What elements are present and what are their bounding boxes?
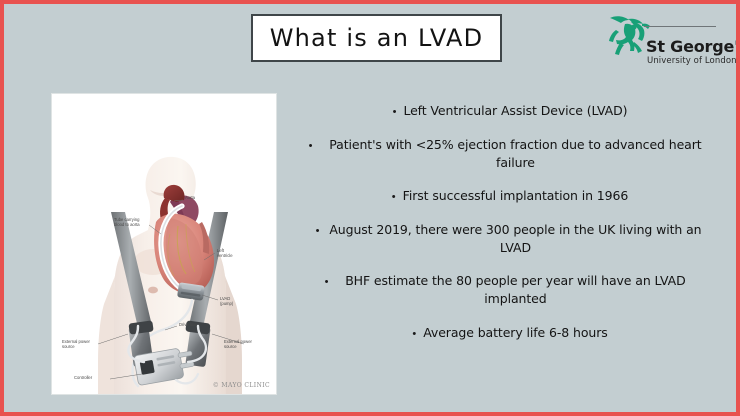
list-item: • Patient's with <25% ejection fraction … [296, 136, 724, 172]
list-item: • August 2019, there were 300 people in … [296, 221, 724, 257]
bullet-text: August 2019, there were 300 people in th… [326, 221, 704, 257]
organisation-logo: St George's University of London [602, 12, 724, 74]
lvad-illustration: Aorta Tube carrying blood to aorta Left … [52, 94, 276, 394]
bullet-marker: • [393, 102, 397, 121]
slide-canvas: What is an LVAD St George's University o… [4, 4, 736, 412]
page-title: What is an LVAD [270, 24, 484, 52]
bullet-text: Average battery life 6-8 hours [423, 324, 607, 342]
figure-credit: © MAYO CLINIC [213, 382, 270, 389]
logo-divider-rule [644, 26, 716, 27]
figure-label-aorta: Aorta [185, 195, 195, 200]
figure-label-power-left: External power source [62, 339, 90, 350]
list-item: • First successful implantation in 1966 [296, 187, 724, 206]
bullet-text: First successful implantation in 1966 [403, 187, 629, 205]
list-item: • Left Ventricular Assist Device (LVAD) [296, 102, 724, 121]
bullet-text: BHF estimate the 80 people per year will… [335, 272, 695, 308]
figure-label-drive-line: Drive line [179, 322, 196, 327]
figure-label-power-right: External power source [224, 339, 252, 350]
figure-label-lvad-pump: LVAD (pump) [220, 296, 233, 307]
bullet-marker: • [325, 272, 329, 291]
slide-title-box: What is an LVAD [251, 14, 502, 62]
bullet-text: Left Ventricular Assist Device (LVAD) [403, 102, 627, 120]
bullet-marker: • [392, 187, 396, 206]
bullet-marker: • [309, 136, 313, 155]
logo-subtitle: University of London [647, 56, 736, 66]
figure-label-tube: Tube carrying blood to aorta [114, 217, 140, 228]
bullet-marker: • [412, 324, 416, 343]
list-item: • BHF estimate the 80 people per year wi… [296, 272, 724, 308]
bullet-text: Patient's with <25% ejection fraction du… [319, 136, 711, 172]
figure-label-left-ventricle: Left ventricle [217, 248, 233, 259]
figure-label-controller: Controller [74, 375, 92, 380]
logo-name: St George's [646, 37, 736, 56]
list-item: • Average battery life 6-8 hours [296, 324, 724, 343]
bullet-list: • Left Ventricular Assist Device (LVAD) … [296, 102, 724, 392]
bullet-marker: • [316, 221, 320, 240]
